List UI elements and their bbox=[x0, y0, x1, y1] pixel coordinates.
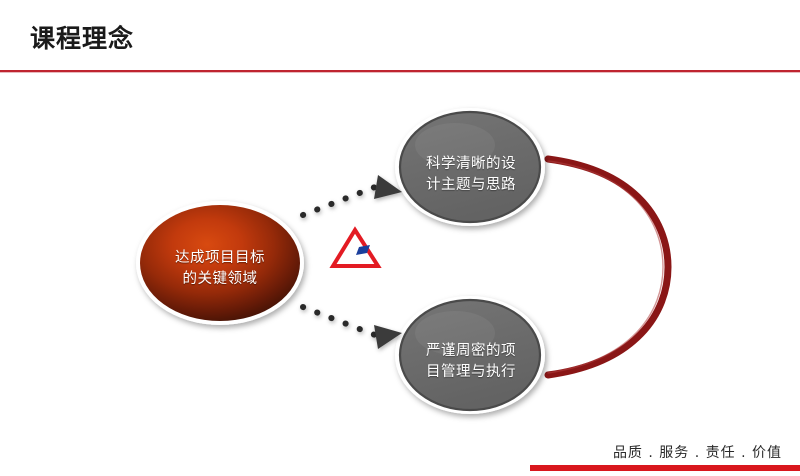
page-title: 课程理念 bbox=[30, 22, 134, 56]
connector-arrow-bottom bbox=[303, 307, 402, 349]
node-project-management[interactable] bbox=[395, 296, 545, 414]
triangle-logo-icon bbox=[333, 230, 378, 266]
footer-slogan: 品质 . 服务 . 责任 . 价值 bbox=[613, 442, 782, 462]
footer-accent-bar bbox=[530, 465, 800, 471]
slide-canvas: 课程理念 bbox=[0, 0, 800, 476]
title-divider-rule-highlight bbox=[0, 72, 800, 73]
linking-arc bbox=[548, 159, 668, 375]
node-key-areas[interactable] bbox=[136, 201, 304, 325]
relationship-diagram: 达成项目目标的关键领域 科学清晰的设计主题与思路 严谨周密的项目管理与执行 bbox=[0, 75, 800, 435]
diagram-graphics bbox=[0, 75, 800, 435]
connector-arrow-top bbox=[303, 175, 402, 215]
node-design-theme[interactable] bbox=[395, 108, 545, 226]
